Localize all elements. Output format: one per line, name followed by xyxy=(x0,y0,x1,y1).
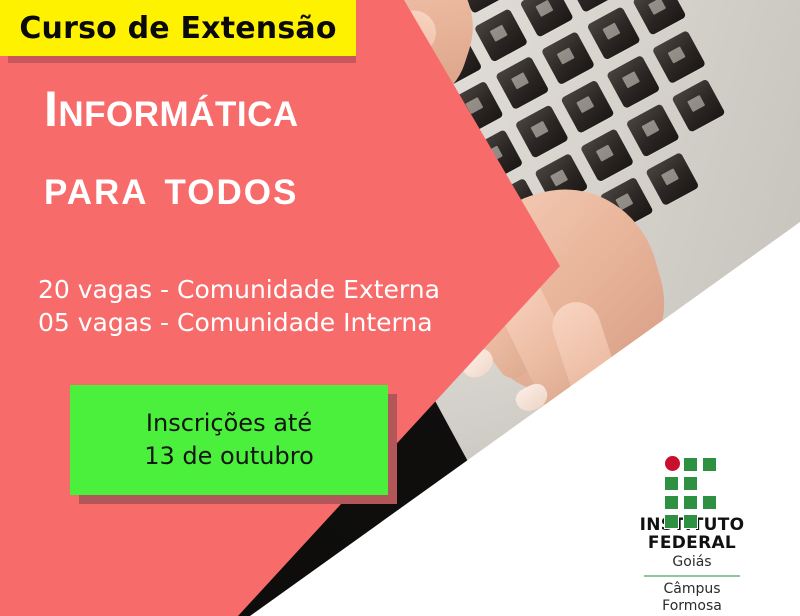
deadline-line-1: Inscrições até xyxy=(146,407,312,440)
logo-institution-line-2: FEDERAL xyxy=(612,535,772,553)
title-line-2: para todos xyxy=(44,162,464,212)
page-title: Informática para todos xyxy=(44,84,464,212)
logo-state-name: Goiás xyxy=(612,554,772,570)
logo-square xyxy=(664,514,679,529)
title-line-1: Informática xyxy=(44,84,464,134)
logo-square xyxy=(702,495,717,510)
vacancy-internal: 05 vagas - Comunidade Interna xyxy=(38,306,478,339)
logo-square xyxy=(702,457,717,472)
instituto-federal-logo: INSTITUTO FEDERAL Goiás Câmpus Formosa xyxy=(612,455,772,616)
logo-square xyxy=(683,514,698,529)
if-logo-mark-icon xyxy=(664,455,720,511)
registration-deadline-box[interactable]: Inscrições até 13 de outubro xyxy=(70,385,388,495)
logo-campus-name: Formosa xyxy=(612,598,772,615)
logo-divider xyxy=(644,575,740,577)
deadline-line-2: 13 de outubro xyxy=(144,440,314,473)
logo-square xyxy=(683,495,698,510)
poster: Curso de Extensão Informática para todos… xyxy=(0,0,800,616)
logo-red-dot-icon xyxy=(665,456,680,471)
vacancy-external: 20 vagas - Comunidade Externa xyxy=(38,273,478,306)
banner-shadow xyxy=(8,56,356,63)
logo-square xyxy=(664,495,679,510)
logo-square xyxy=(683,457,698,472)
course-type-banner: Curso de Extensão xyxy=(0,0,356,56)
vacancies-list: 20 vagas - Comunidade Externa 05 vagas -… xyxy=(38,273,478,339)
logo-campus-label: Câmpus xyxy=(612,581,772,598)
logo-square xyxy=(683,476,698,491)
logo-square xyxy=(664,476,679,491)
course-type-label: Curso de Extensão xyxy=(19,11,336,46)
